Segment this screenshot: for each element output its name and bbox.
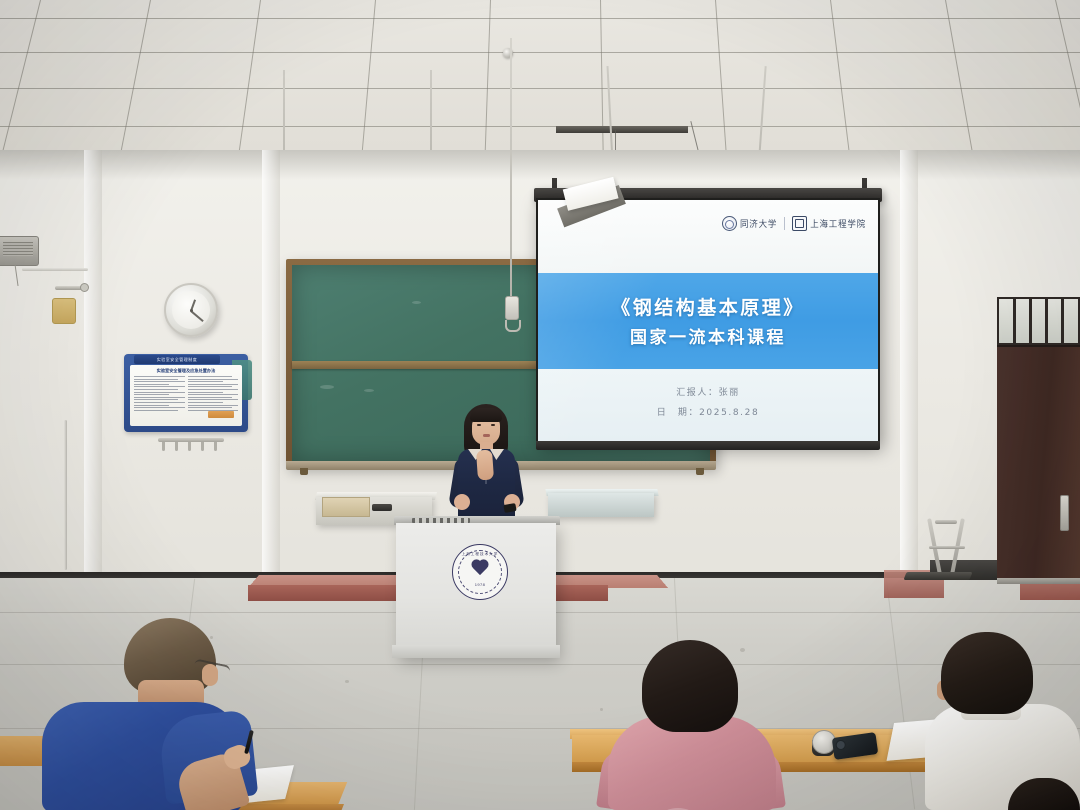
coat-hook: [201, 442, 204, 451]
slide-subtitle: 国家一流本科课程: [630, 323, 786, 348]
tongji-university-logo-text: 同济大学: [740, 217, 777, 230]
presenter-eye-right: [491, 424, 495, 426]
wall-mounted-box: [52, 298, 76, 324]
wall-column-left: [84, 150, 102, 620]
tongji-university-logo: 同济大学: [722, 216, 777, 231]
door-threshold: [997, 578, 1080, 584]
slide-logo-row: 同济大学 上海工程学院: [722, 216, 866, 231]
side-table-right: [548, 493, 654, 517]
slide-presenter: 汇报人：张丽: [538, 385, 878, 398]
clock-minute-hand: [191, 310, 204, 321]
notice-column-left: [134, 376, 185, 412]
screen-cord-hook[interactable]: [505, 320, 521, 332]
clock-center-pin: [190, 309, 193, 312]
wall-air-conditioner: [0, 236, 39, 266]
coat-hook: [162, 442, 165, 451]
presenter-mouth: [483, 434, 490, 437]
audience-right-hair: [941, 632, 1033, 714]
audience-member-left: [42, 618, 272, 810]
coat-hook: [214, 442, 217, 451]
door-transom-window: [997, 297, 1080, 345]
wall-pole: [64, 420, 67, 570]
notice-orange-marker: [208, 411, 234, 418]
classroom-door[interactable]: [997, 297, 1080, 582]
phone-camera-icon: [835, 739, 846, 750]
engineering-college-logo: 上海工程学院: [792, 216, 866, 231]
presenter-eye-left: [477, 424, 481, 426]
presenter: [440, 400, 532, 528]
emblem-year: 1978: [453, 582, 507, 587]
slide-date: 日 期：2025.8.28: [538, 405, 878, 418]
presenter-forearm-left: [454, 494, 470, 510]
projection-screen-bottom-bar: [536, 441, 880, 450]
cardboard-box-on-table: [322, 497, 370, 517]
audience-center-hair: [642, 640, 738, 732]
emblem-heart-icon: [470, 560, 490, 578]
wall-ceiling-shadow: [0, 150, 1080, 180]
slide-title: 《钢结构基本原理》: [611, 293, 805, 320]
notice-poster: 实验室安全管理及应急处置办法: [130, 365, 242, 426]
wall-column-mid: [262, 150, 280, 620]
lectern-base: [392, 645, 560, 658]
logo-divider: [784, 217, 785, 230]
wall-clock: [164, 283, 218, 337]
door-leaf[interactable]: [997, 345, 1080, 584]
bracket-knob: [80, 283, 89, 292]
chalk-tray-clip: [300, 468, 308, 475]
emblem-top-text: 上海工程技术大学: [453, 552, 507, 557]
wall-notice-board: 实验室安全管理制度 实验室安全管理及应急处置办法: [124, 354, 248, 432]
notice-poster-title: 实验室安全管理及应急处置办法: [134, 368, 238, 374]
college-seal-icon: [792, 216, 807, 231]
notice-header: 实验室安全管理制度: [134, 355, 220, 364]
engineering-college-logo-text: 上海工程学院: [810, 217, 866, 230]
screen-pull-handle[interactable]: [505, 296, 519, 320]
notice-column-right: [188, 376, 239, 412]
door-handle-icon[interactable]: [1060, 495, 1069, 531]
chalk-tray-clip: [696, 468, 704, 475]
classroom-photo: 实验室安全管理制度 实验室安全管理及应急处置办法: [0, 0, 1080, 810]
screen-pull-cord[interactable]: [510, 38, 512, 298]
audience-member-center: [600, 640, 790, 810]
dark-object-on-table: [372, 504, 392, 511]
slide-title-band: 《钢结构基本原理》 国家一流本科课程: [538, 273, 878, 370]
presenter-hands: [476, 449, 494, 480]
folded-stand-base: [903, 572, 972, 580]
university-seal-icon: [722, 216, 737, 231]
coat-hook: [175, 442, 178, 451]
university-emblem: 上海工程技术大学 1978: [452, 544, 508, 600]
presentation-slide: 同济大学 上海工程学院 《钢结构基本原理》 国家一流本科课程 汇报人：张丽 日 …: [538, 200, 878, 442]
coat-hook: [188, 442, 191, 451]
presenter-fringe: [470, 408, 502, 422]
clock-face: [172, 291, 210, 329]
ac-pipe: [22, 268, 88, 271]
slide-footer: 汇报人：张丽 日 期：2025.8.28: [538, 369, 878, 442]
notice-header-text: 实验室安全管理制度: [134, 355, 220, 364]
projection-screen: 同济大学 上海工程学院 《钢结构基本原理》 国家一流本科课程 汇报人：张丽 日 …: [536, 198, 880, 444]
